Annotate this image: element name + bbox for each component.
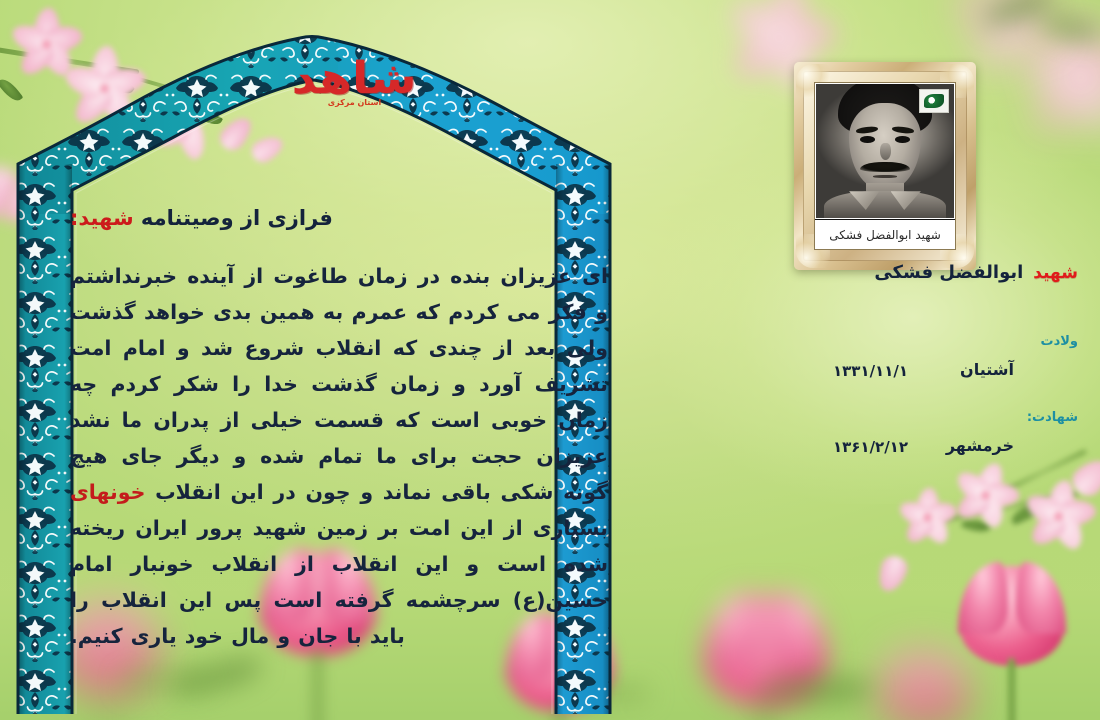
martyr-photo [816, 84, 954, 218]
martyr-info-panel: شهید ابوالفضل فشکی ولادت آشتیان ۱۳۳۱/۱۱/… [690, 262, 1090, 492]
will-part-2-highlight: خونهای [70, 480, 145, 504]
will-heading-highlight: شهید: [70, 206, 134, 230]
logo-main-text: شاهد [292, 56, 416, 102]
fact-martyrdom-date: ۱۳۶۱/۲/۱۲ [833, 438, 908, 456]
shahed-logo: شاهد استان مرکزی [297, 56, 412, 148]
fact-birth-date: ۱۳۳۱/۱۱/۱ [833, 362, 908, 380]
martyr-portrait-frame: شهید ابوالفضل فشکی [794, 62, 976, 270]
photo-eye-left [860, 136, 875, 143]
will-part-3: بسیاری از این امت بر زمین شهید پرور ایرا… [70, 516, 608, 648]
fact-martyrdom-label: شهادت: [1027, 410, 1078, 425]
will-heading-prefix: فرازی از وصیتنامه [134, 206, 333, 230]
photo-moustache [860, 162, 910, 173]
martyr-name-line: شهید ابوالفضل فشکی [874, 262, 1078, 283]
photo-eye-right [895, 136, 910, 143]
photo-shirt [824, 191, 945, 218]
will-heading: فرازی از وصیتنامه شهید: [70, 206, 600, 230]
martyr-title-word: شهید [1033, 263, 1078, 283]
fact-birth-label: ولادت [1041, 334, 1079, 349]
memorial-poster: شاهد استان مرکزی فرازی از وصیتنامه شهید:… [0, 0, 1100, 720]
martyr-full-name: ابوالفضل فشکی [874, 262, 1023, 283]
seal-glyph [924, 94, 944, 108]
photo-caption: شهید ابوالفضل فشکی [815, 219, 955, 249]
shahed-seal-icon [919, 89, 949, 113]
will-part-1: ای عزیزان بنده در زمان طاغوت از آینده خب… [70, 264, 608, 504]
fact-birth-place: آشتیان [960, 360, 1014, 379]
photo-matte: شهید ابوالفضل فشکی [814, 82, 956, 250]
will-body-text: ای عزیزان بنده در زمان طاغوت از آینده خب… [70, 258, 608, 654]
fact-martyrdom-place: خرمشهر [946, 436, 1014, 455]
